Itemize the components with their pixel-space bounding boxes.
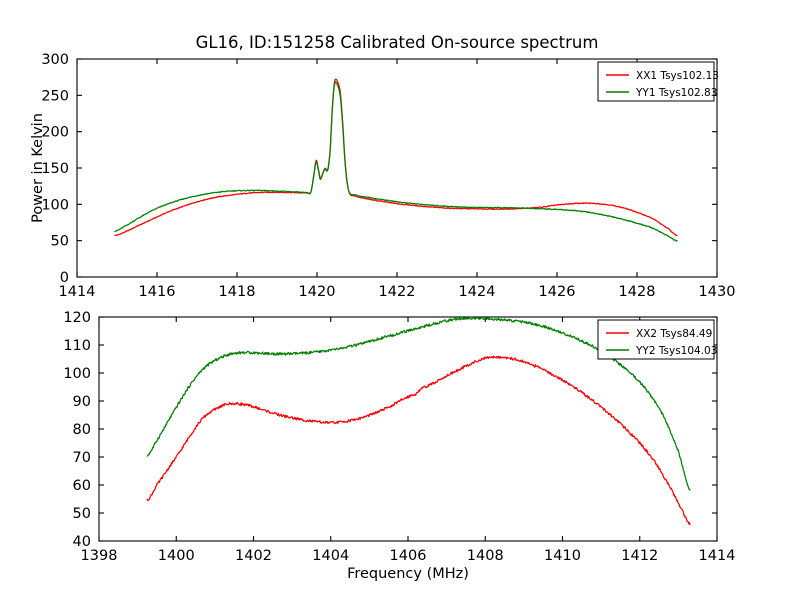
- y-tick-label: 70: [73, 450, 91, 466]
- x-tick-label: 1400: [158, 548, 195, 564]
- y-tick-label: 300: [41, 52, 69, 68]
- y-tick-label: 250: [41, 88, 69, 104]
- x-tick-label: 1410: [544, 548, 581, 564]
- x-tick-label: 1412: [621, 548, 658, 564]
- x-axis-label: Frequency (MHz): [347, 566, 469, 582]
- x-tick-label: 1424: [459, 284, 496, 300]
- x-tick-label: 1408: [467, 548, 504, 564]
- matplotlib-figure: 1414141614181420142214241426142814300501…: [0, 0, 800, 600]
- chart-title: GL16, ID:151258 Calibrated On-source spe…: [196, 33, 599, 52]
- series-line-xx2: [147, 356, 690, 524]
- y-tick-label: 110: [63, 338, 91, 354]
- y-tick-label: 80: [73, 422, 91, 438]
- x-tick-label: 1422: [379, 284, 416, 300]
- y-axis-label: Power in Kelvin: [30, 113, 46, 223]
- x-tick-label: 1406: [390, 548, 427, 564]
- y-tick-label: 50: [73, 506, 91, 522]
- y-tick-label: 60: [73, 478, 91, 494]
- y-tick-label: 100: [63, 366, 91, 382]
- y-tick-label: 0: [60, 270, 69, 286]
- x-tick-label: 1414: [699, 548, 736, 564]
- x-tick-label: 1416: [139, 284, 176, 300]
- x-tick-label: 1414: [59, 284, 96, 300]
- x-tick-label: 1426: [539, 284, 576, 300]
- x-tick-label: 1428: [619, 284, 656, 300]
- x-tick-label: 1402: [235, 548, 272, 564]
- y-tick-label: 120: [63, 310, 91, 326]
- x-tick-label: 1430: [699, 284, 736, 300]
- legend-label-xx2: XX2 Tsys84.49: [636, 328, 712, 340]
- legend-label-yy1: YY1 Tsys102.83: [635, 87, 717, 99]
- x-tick-label: 1418: [219, 284, 256, 300]
- legend-label-yy2: YY2 Tsys104.03: [635, 345, 717, 357]
- legend-label-xx1: XX1 Tsys102.13: [636, 70, 719, 82]
- x-tick-label: 1420: [299, 284, 336, 300]
- x-tick-label: 1404: [312, 548, 349, 564]
- series-line-xx1: [115, 79, 677, 235]
- y-tick-label: 90: [73, 394, 91, 410]
- spectrum-plot-canvas: 1414141614181420142214241426142814300501…: [0, 0, 800, 600]
- y-tick-label: 50: [51, 234, 69, 250]
- y-tick-label: 40: [73, 534, 91, 550]
- x-tick-label: 1398: [81, 548, 118, 564]
- series-line-yy1: [115, 82, 677, 241]
